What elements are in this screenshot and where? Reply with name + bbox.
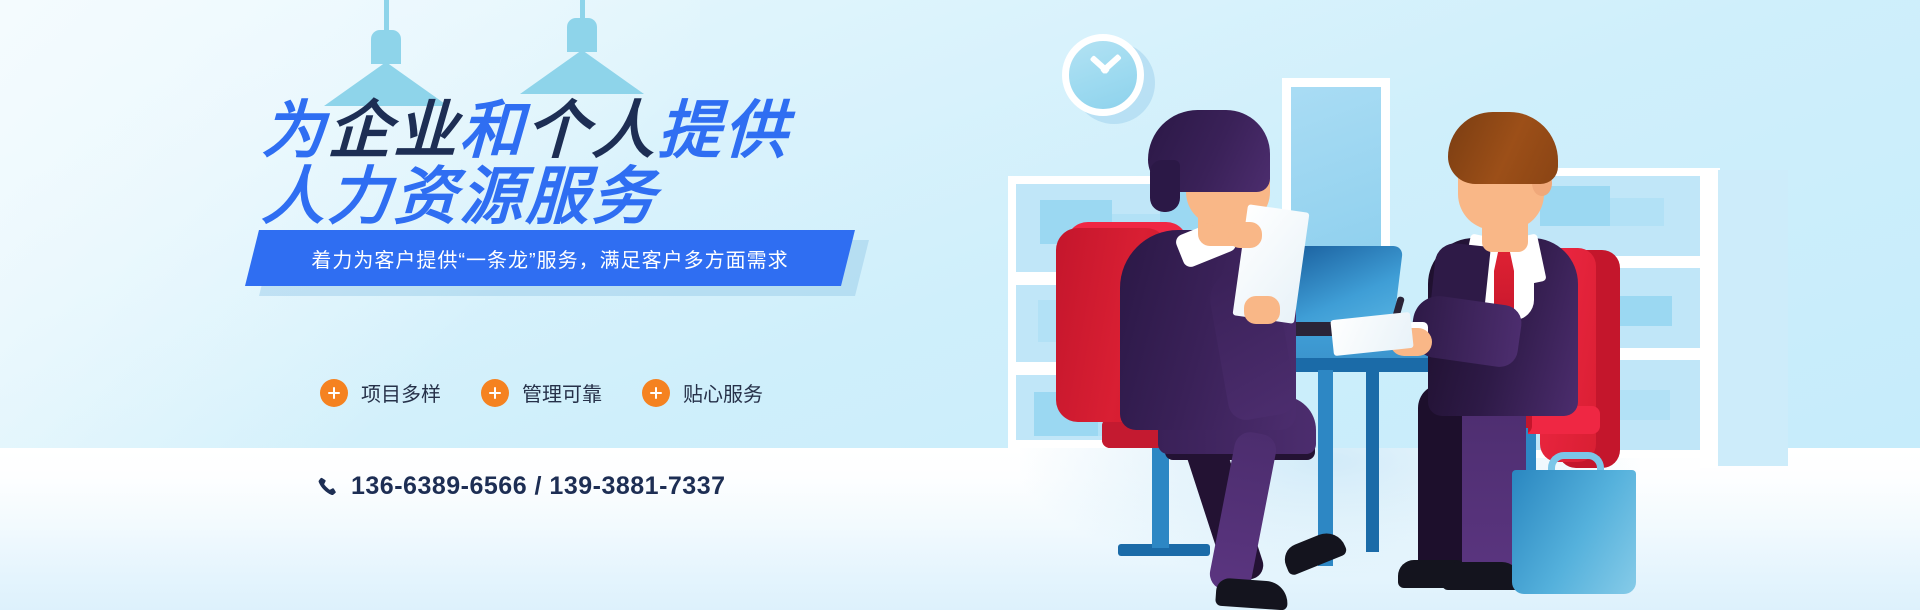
headline-seg-1: 为 — [261, 96, 329, 166]
bookshelf-panel-right — [1718, 170, 1788, 466]
feature-item-1[interactable]: 项目多样 — [320, 378, 441, 407]
plus-icon — [481, 379, 509, 407]
feature-label-1: 项目多样 — [361, 378, 441, 407]
desk-leg-back — [1366, 370, 1379, 552]
briefcase-body — [1512, 470, 1636, 594]
plus-icon — [320, 379, 348, 407]
headline-line-2: 人力资源服务 — [261, 162, 659, 232]
pendant-lamp-right-icon — [520, 0, 644, 68]
subtitle-ribbon: 着力为客户提供“一条龙”服务，满足客户多方面需求 — [252, 230, 882, 302]
phone-number: 136-6389-6566 / 139-3881-7337 — [351, 472, 726, 501]
man-right-shoe-near — [1442, 562, 1520, 590]
feature-label-3: 贴心服务 — [683, 378, 763, 407]
headline-seg-4: 个人 — [525, 96, 659, 166]
headline-seg-6: 人力资源服务 — [261, 162, 659, 232]
man-left-hand-upper — [1228, 222, 1262, 248]
headline-seg-2: 企业 — [327, 96, 461, 166]
feature-list: 项目多样 管理可靠 贴心服务 — [320, 378, 763, 407]
hr-service-banner: 为企业和个人提供 人力资源服务 着力为客户提供“一条龙”服务，满足客户多方面需求… — [0, 0, 1920, 610]
subtitle-text: 着力为客户提供“一条龙”服务，满足客户多方面需求 — [252, 230, 848, 286]
phone-icon — [316, 476, 338, 498]
headline-seg-5: 提供 — [657, 96, 791, 166]
wall-clock-icon — [1062, 34, 1144, 116]
feature-label-2: 管理可靠 — [522, 378, 602, 407]
man-left-hand-lower — [1244, 296, 1280, 324]
feature-item-2[interactable]: 管理可靠 — [481, 378, 602, 407]
plus-icon — [642, 379, 670, 407]
headline-seg-3: 和 — [459, 96, 527, 166]
feature-item-3[interactable]: 贴心服务 — [642, 378, 763, 407]
man-left-hair-sideburn — [1150, 160, 1180, 212]
contact-phone[interactable]: 136-6389-6566 / 139-3881-7337 — [316, 472, 726, 501]
pendant-lamp-left-icon — [324, 0, 448, 80]
headline-line-1: 为企业和个人提供 — [261, 96, 791, 166]
bookshelf-divider — [1700, 168, 1718, 468]
